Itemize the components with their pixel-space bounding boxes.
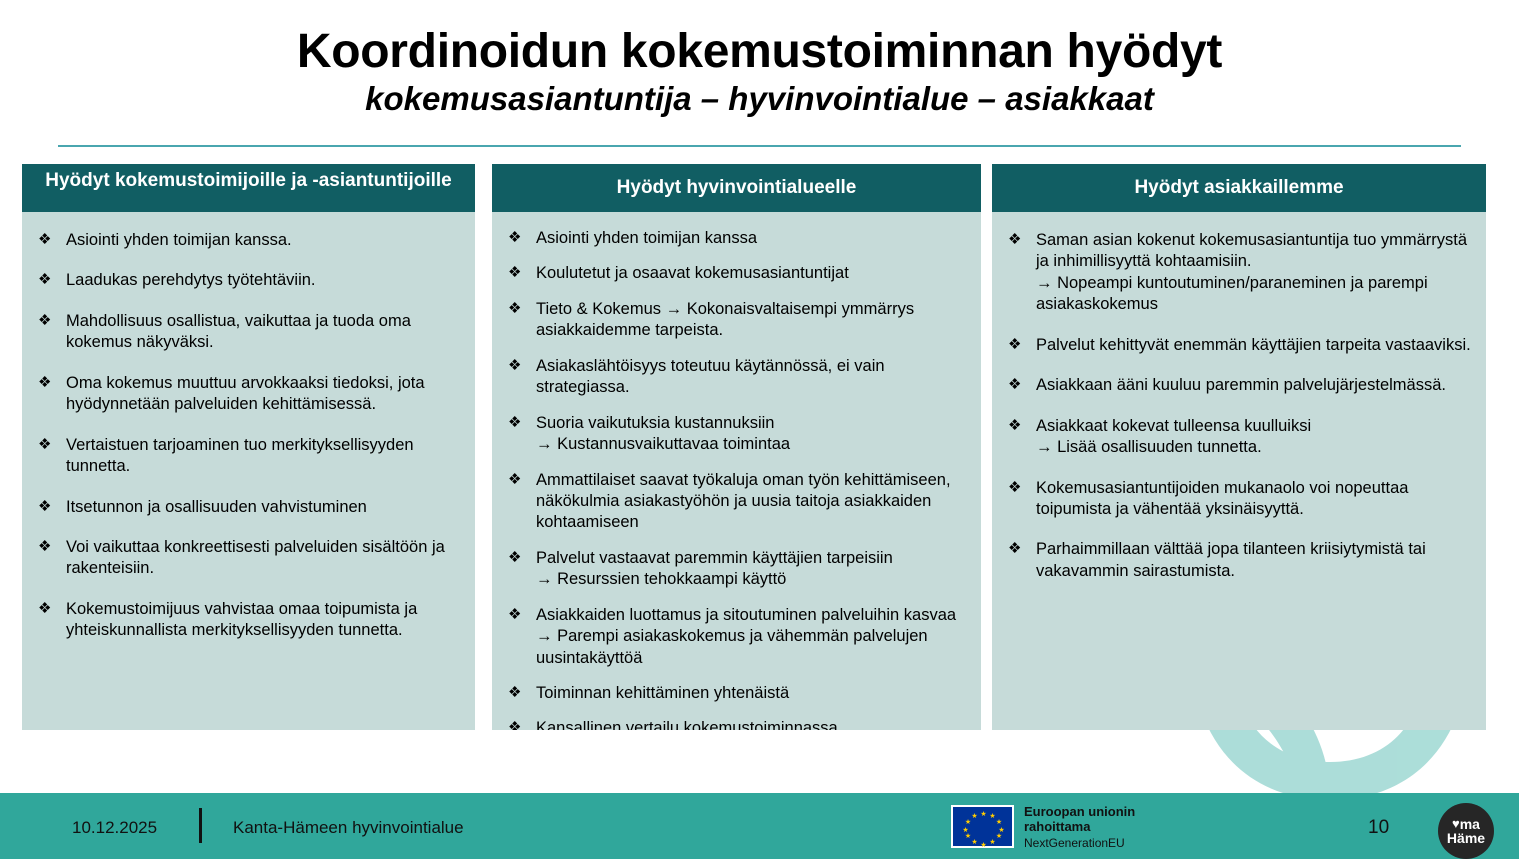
list-item-text: Saman asian kokenut kokemusasiantuntija … xyxy=(1036,230,1472,316)
diamond-bullet-icon: ❖ xyxy=(508,299,521,319)
benefit-column-wellbeing-region: Hyödyt hyvinvointialueelle ❖Asiointi yhd… xyxy=(492,164,981,730)
list-item: ❖Kokemustoimijuus vahvistaa omaa toipumi… xyxy=(36,599,461,642)
column-body-experts: ❖Asiointi yhden toimijan kanssa. ❖Laaduk… xyxy=(22,212,475,730)
benefit-column-clients: Hyödyt asiakkaillemme ❖Saman asian koken… xyxy=(992,164,1486,730)
list-item-text: Asiakaslähtöisyys toteutuu käytännössä, … xyxy=(536,356,967,399)
diamond-bullet-icon: ❖ xyxy=(1008,416,1021,436)
page-subtitle: kokemusasiantuntija – hyvinvointialue – … xyxy=(0,80,1519,118)
list-item: ❖Itsetunnon ja osallisuuden vahvistumine… xyxy=(36,497,461,518)
list-item-text: Oma kokemus muuttuu arvokkaaksi tiedoksi… xyxy=(66,373,461,416)
diamond-bullet-icon: ❖ xyxy=(1008,478,1021,498)
brand-logo-ma: ma xyxy=(1460,817,1480,831)
diamond-bullet-icon: ❖ xyxy=(508,356,521,376)
list-item-text: Kokemustoimijuus vahvistaa omaa toipumis… xyxy=(66,599,461,642)
slide: Koordinoidun kokemustoiminnan hyödyt kok… xyxy=(0,0,1519,859)
diamond-bullet-icon: ❖ xyxy=(1008,335,1021,355)
list-item: ❖Voi vaikuttaa konkreettisesti palveluid… xyxy=(36,537,461,580)
diamond-bullet-icon: ❖ xyxy=(38,537,51,557)
bullet-list-clients: ❖Saman asian kokenut kokemusasiantuntija… xyxy=(1006,230,1472,582)
diamond-bullet-icon: ❖ xyxy=(1008,375,1021,395)
bullet-list-experts: ❖Asiointi yhden toimijan kanssa. ❖Laaduk… xyxy=(36,230,461,642)
list-item-text: Asiointi yhden toimijan kanssa. xyxy=(66,230,461,251)
list-item: ❖Ammattilaiset saavat työkaluja oman työ… xyxy=(506,470,967,534)
list-item-text: Suoria vaikutuksia kustannuksiin → Kusta… xyxy=(536,413,967,456)
list-item: ❖Saman asian kokenut kokemusasiantuntija… xyxy=(1006,230,1472,316)
diamond-bullet-icon: ❖ xyxy=(1008,230,1021,250)
list-item: ❖Parhaimmillaan välttää jopa tilanteen k… xyxy=(1006,539,1472,582)
list-item: ❖Asiakkaiden luottamus ja sitoutuminen p… xyxy=(506,605,967,669)
list-item-text: Asiakkaiden luottamus ja sitoutuminen pa… xyxy=(536,605,967,669)
diamond-bullet-icon: ❖ xyxy=(508,228,521,248)
benefit-column-experts: Hyödyt kokemustoimijoille ja -asiantunti… xyxy=(22,164,475,730)
list-item-text: Kokemusasiantuntijoiden mukanaolo voi no… xyxy=(1036,478,1472,521)
eu-text-line3: NextGenerationEU xyxy=(1024,836,1135,850)
diamond-bullet-icon: ❖ xyxy=(508,605,521,625)
footer-date: 10.12.2025 xyxy=(72,818,157,838)
list-item-text: Asiointi yhden toimijan kanssa xyxy=(536,228,967,249)
diamond-bullet-icon: ❖ xyxy=(38,373,51,393)
benefit-columns: Hyödyt kokemustoimijoille ja -asiantunti… xyxy=(0,164,1519,730)
list-item: ❖Laadukas perehdytys työtehtäviin. xyxy=(36,270,461,291)
list-item: ❖Mahdollisuus osallistua, vaikuttaa ja t… xyxy=(36,311,461,354)
list-item: ❖Palvelut kehittyvät enemmän käyttäjien … xyxy=(1006,335,1472,356)
list-item: ❖Suoria vaikutuksia kustannuksiin → Kust… xyxy=(506,413,967,456)
brand-logo-line2: Häme xyxy=(1447,831,1485,846)
list-item-text: Voi vaikuttaa konkreettisesti palveluide… xyxy=(66,537,461,580)
diamond-bullet-icon: ❖ xyxy=(508,470,521,490)
list-item: ❖Koulutetut ja osaavat kokemusasiantunti… xyxy=(506,263,967,284)
diamond-bullet-icon: ❖ xyxy=(508,548,521,568)
list-item-text: Itsetunnon ja osallisuuden vahvistuminen xyxy=(66,497,461,518)
diamond-bullet-icon: ❖ xyxy=(508,413,521,433)
slide-title-block: Koordinoidun kokemustoiminnan hyödyt kok… xyxy=(0,26,1519,118)
title-divider-rule xyxy=(58,145,1461,147)
eu-funding-logo: ★ ★ ★ ★ ★ ★ ★ ★ ★ ★ ★ ★ Euroopan unionin… xyxy=(951,804,1135,850)
diamond-bullet-icon: ❖ xyxy=(38,599,51,619)
list-item: ❖Oma kokemus muuttuu arvokkaaksi tiedoks… xyxy=(36,373,461,416)
list-item-text: Mahdollisuus osallistua, vaikuttaa ja tu… xyxy=(66,311,461,354)
page-title: Koordinoidun kokemustoiminnan hyödyt xyxy=(0,26,1519,78)
slide-footer: 10.12.2025 Kanta-Hämeen hyvinvointialue … xyxy=(0,793,1519,859)
list-item-text: Tieto & Kokemus → Kokonaisvaltaisempi ym… xyxy=(536,299,967,342)
list-item-text: Asiakkaan ääni kuuluu paremmin palvelujä… xyxy=(1036,375,1472,396)
page-number: 10 xyxy=(1368,817,1389,839)
list-item: ❖Asiakaslähtöisyys toteutuu käytännössä,… xyxy=(506,356,967,399)
eu-funding-text: Euroopan unionin rahoittama NextGenerati… xyxy=(1024,804,1135,850)
diamond-bullet-icon: ❖ xyxy=(1008,539,1021,559)
list-item: ❖Asiointi yhden toimijan kanssa xyxy=(506,228,967,249)
diamond-bullet-icon: ❖ xyxy=(38,497,51,517)
list-item-text: Toiminnan kehittäminen yhtenäistä xyxy=(536,683,967,704)
list-item-text: Asiakkaat kokevat tulleensa kuulluiksi →… xyxy=(1036,416,1472,459)
list-item: ❖Kokemusasiantuntijoiden mukanaolo voi n… xyxy=(1006,478,1472,521)
list-item: ❖Asiointi yhden toimijan kanssa. xyxy=(36,230,461,251)
list-item-text: Koulutetut ja osaavat kokemusasiantuntij… xyxy=(536,263,967,284)
column-header-experts: Hyödyt kokemustoimijoille ja -asiantunti… xyxy=(22,164,475,212)
eu-flag-icon: ★ ★ ★ ★ ★ ★ ★ ★ ★ ★ ★ ★ xyxy=(951,805,1014,848)
diamond-bullet-icon: ❖ xyxy=(508,263,521,283)
column-body-wellbeing-region: ❖Asiointi yhden toimijan kanssa ❖Koulute… xyxy=(492,212,981,730)
list-item-text: Laadukas perehdytys työtehtäviin. xyxy=(66,270,461,291)
oma-hame-brand-logo: ♥ma Häme xyxy=(1438,803,1494,859)
diamond-bullet-icon: ❖ xyxy=(38,435,51,455)
list-item-text: Parhaimmillaan välttää jopa tilanteen kr… xyxy=(1036,539,1472,582)
list-item-text: Ammattilaiset saavat työkaluja oman työn… xyxy=(536,470,967,534)
bullet-list-wellbeing-region: ❖Asiointi yhden toimijan kanssa ❖Koulute… xyxy=(506,228,967,730)
list-item: ❖Kansallinen vertailu kokemustoiminnassa xyxy=(506,718,967,730)
list-item: ❖Asiakkaan ääni kuuluu paremmin palveluj… xyxy=(1006,375,1472,396)
list-item: ❖Tieto & Kokemus → Kokonaisvaltaisempi y… xyxy=(506,299,967,342)
list-item-text: Kansallinen vertailu kokemustoiminnassa xyxy=(536,718,967,730)
heart-icon: ♥ xyxy=(1452,817,1460,830)
list-item: ❖Toiminnan kehittäminen yhtenäistä xyxy=(506,683,967,704)
list-item: ❖Asiakkaat kokevat tulleensa kuulluiksi … xyxy=(1006,416,1472,459)
diamond-bullet-icon: ❖ xyxy=(38,230,51,250)
diamond-bullet-icon: ❖ xyxy=(38,270,51,290)
list-item: ❖Palvelut vastaavat paremmin käyttäjien … xyxy=(506,548,967,591)
eu-text-line1: Euroopan unionin xyxy=(1024,804,1135,819)
brand-logo-line1: ♥ma xyxy=(1452,817,1480,831)
footer-organization: Kanta-Hämeen hyvinvointialue xyxy=(233,818,464,838)
diamond-bullet-icon: ❖ xyxy=(508,718,521,730)
column-header-clients: Hyödyt asiakkaillemme xyxy=(992,164,1486,212)
list-item-text: Palvelut kehittyvät enemmän käyttäjien t… xyxy=(1036,335,1472,356)
diamond-bullet-icon: ❖ xyxy=(508,683,521,703)
footer-divider xyxy=(199,808,202,843)
column-header-wellbeing-region: Hyödyt hyvinvointialueelle xyxy=(492,164,981,212)
list-item: ❖Vertaistuen tarjoaminen tuo merkityksel… xyxy=(36,435,461,478)
eu-text-line2: rahoittama xyxy=(1024,819,1135,834)
diamond-bullet-icon: ❖ xyxy=(38,311,51,331)
column-body-clients: ❖Saman asian kokenut kokemusasiantuntija… xyxy=(992,212,1486,730)
list-item-text: Vertaistuen tarjoaminen tuo merkityksell… xyxy=(66,435,461,478)
list-item-text: Palvelut vastaavat paremmin käyttäjien t… xyxy=(536,548,967,591)
